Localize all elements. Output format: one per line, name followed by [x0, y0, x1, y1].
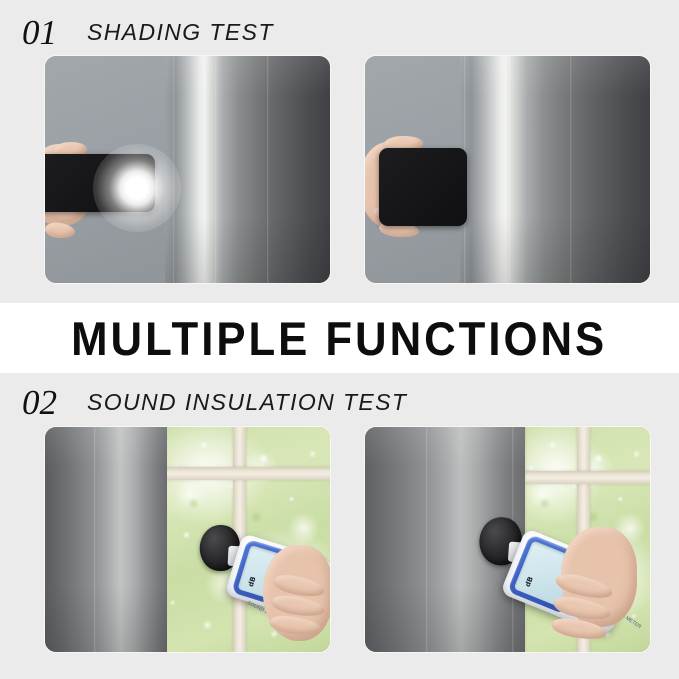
banner: MULTIPLE FUNCTIONS: [0, 303, 679, 373]
photo-panel-shading-light-visible: [45, 56, 330, 283]
smartphone: [379, 148, 467, 226]
meter-reading-unit: dB: [525, 576, 535, 588]
product-infographic: 01 SHADING TEST: [0, 0, 679, 679]
photo-panel-sound-behind-curtain: 42.4 dB SOUND LEVEL METER: [365, 427, 650, 652]
meter-reading-unit: dB: [248, 576, 258, 588]
section-header-01: 01 SHADING TEST: [0, 6, 679, 58]
section-header-02: 02 SOUND INSULATION TEST: [0, 376, 679, 428]
window-mullion-horizontal: [515, 471, 650, 484]
photo-panel-sound-at-open-window: 52.0 dB SOUND LEVEL METER: [45, 427, 330, 652]
curtain-fabric: [45, 427, 167, 652]
window-mullion-horizontal: [155, 467, 330, 480]
photo-panel-shading-light-blocked: [365, 56, 650, 283]
banner-title: MULTIPLE FUNCTIONS: [72, 315, 608, 362]
curtain-fabric: [165, 56, 330, 283]
section-number: 02: [22, 385, 57, 420]
curtain-fabric: [460, 56, 650, 283]
section-number: 01: [22, 15, 57, 50]
section-title: SHADING TEST: [87, 21, 274, 44]
smartphone: [45, 154, 155, 212]
section-title: SOUND INSULATION TEST: [87, 391, 407, 414]
